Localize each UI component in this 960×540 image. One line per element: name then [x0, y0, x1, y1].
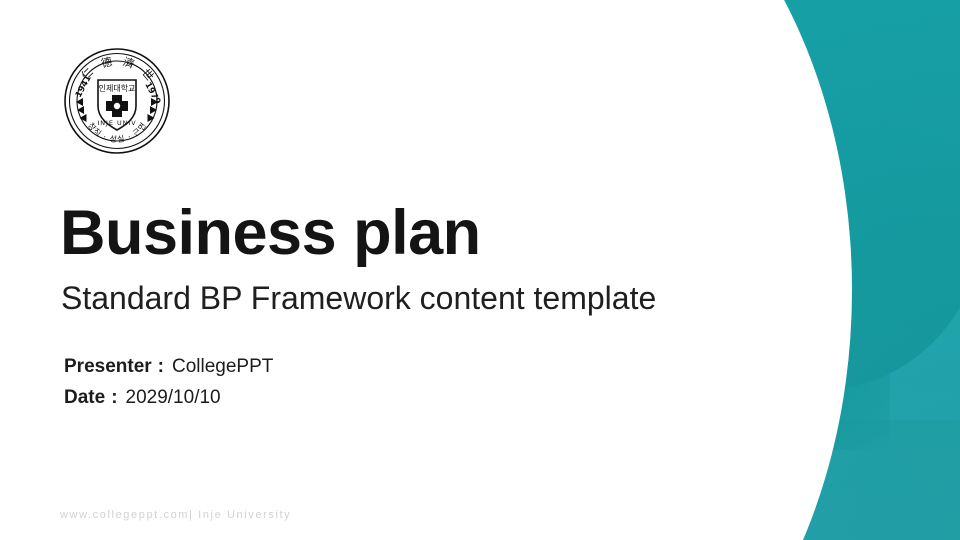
presentation-meta: Presenter:CollegePPT Date:2029/10/10: [64, 352, 273, 414]
date-row: Date:2029/10/10: [64, 383, 273, 414]
presenter-row: Presenter:CollegePPT: [64, 352, 273, 383]
date-separator: :: [111, 387, 117, 408]
page-title: Business plan: [60, 200, 481, 266]
date-value: 2029/10/10: [126, 387, 221, 408]
presenter-label: Presenter: [64, 356, 152, 377]
presentation-slide: 인당관: [0, 0, 960, 540]
footer-credit: www.collegeppt.com| Inje University: [60, 509, 291, 521]
presenter-separator: :: [158, 356, 164, 377]
svg-text:1941: 1941: [74, 74, 94, 100]
svg-text:INJE UNIV: INJE UNIV: [97, 119, 136, 127]
svg-text:인제대학교: 인제대학교: [99, 83, 136, 93]
inje-university-logo: 仁 德 濟 世 창직 · 성실 · 근면 1941 1979 인제대학교 INJ…: [62, 46, 172, 156]
page-subtitle: Standard BP Framework content template: [61, 279, 656, 317]
svg-text:1979: 1979: [142, 81, 162, 107]
presenter-value: CollegePPT: [172, 356, 273, 377]
university-emblem-icon: 仁 德 濟 世 창직 · 성실 · 근면 1941 1979 인제대학교 INJ…: [62, 46, 172, 156]
date-label: Date: [64, 387, 105, 408]
